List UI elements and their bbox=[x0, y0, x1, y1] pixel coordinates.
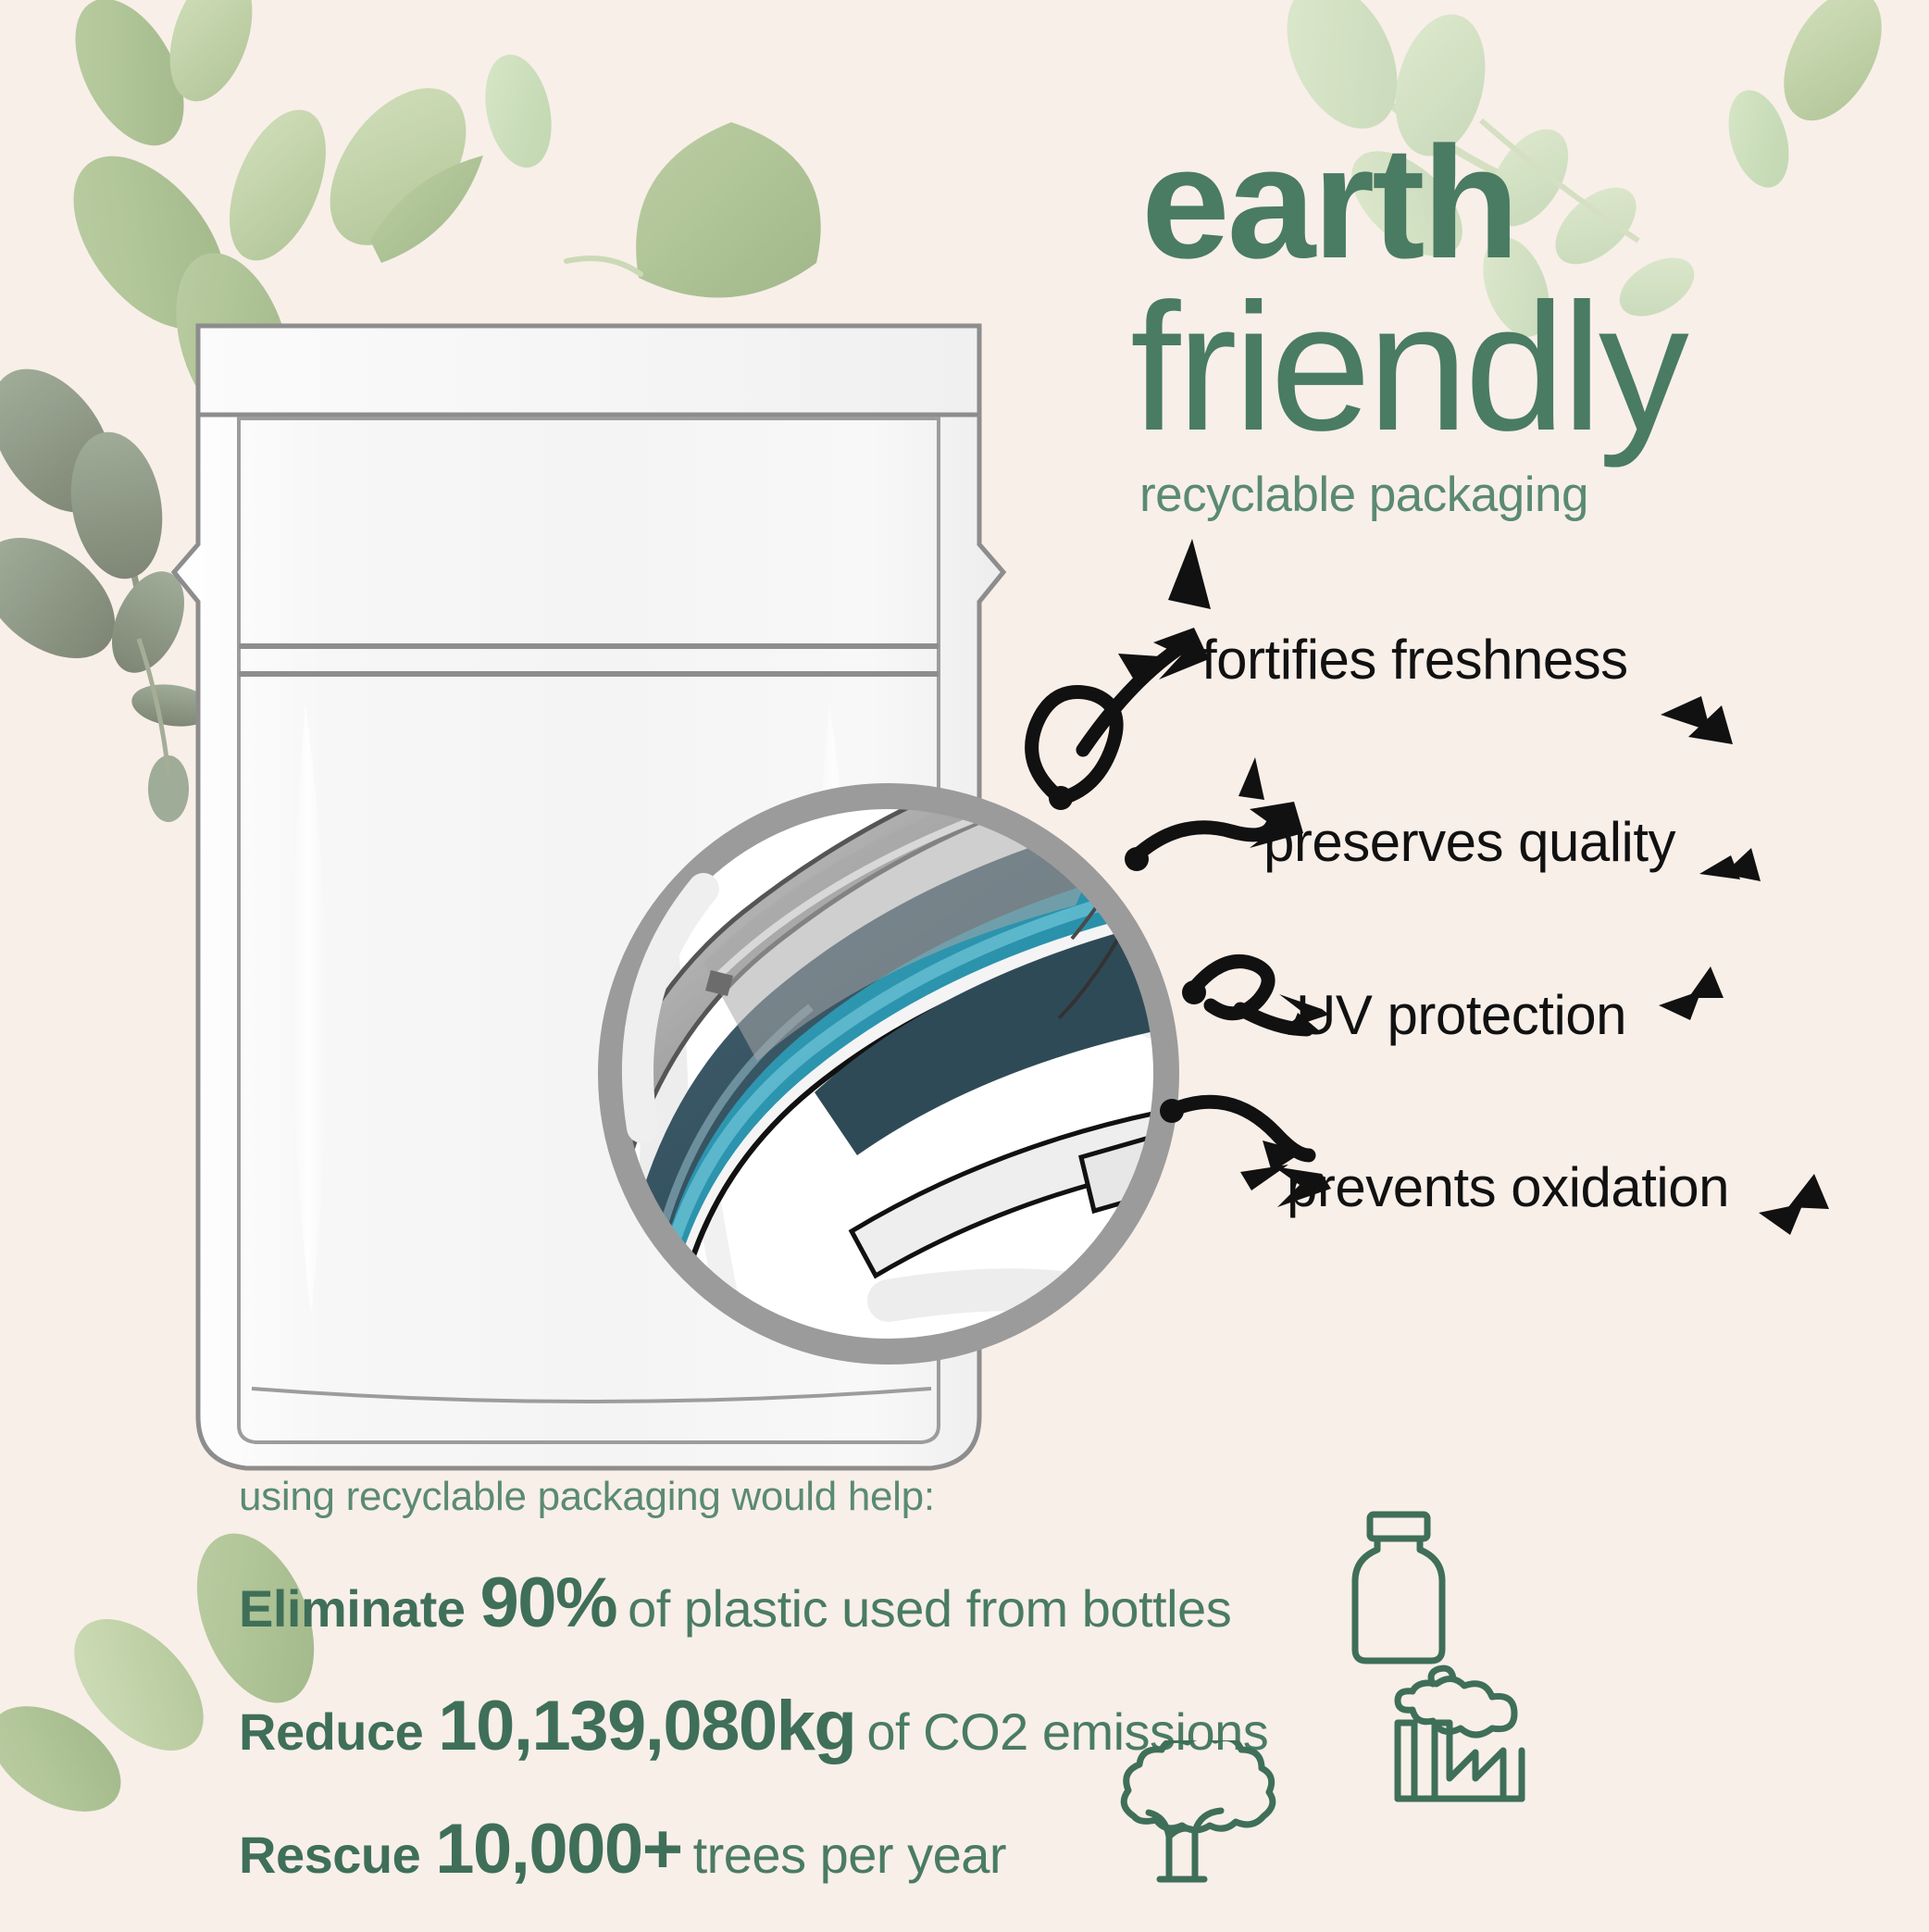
stat-number: 90% bbox=[479, 1563, 616, 1643]
anchor-dot-2 bbox=[1125, 847, 1149, 871]
feature-label-preserves-quality: preserves quality bbox=[1263, 810, 1675, 874]
feature-label-prevents-oxidation: prevents oxidation bbox=[1287, 1155, 1729, 1219]
headline-tagline: recyclable packaging bbox=[1139, 467, 1865, 523]
anchor-dot-3 bbox=[1182, 980, 1206, 1004]
infographic-canvas: earth friendly recyclable packaging fort… bbox=[0, 0, 1929, 1930]
feature-label-fortifies-freshness: fortifies freshness bbox=[1201, 628, 1628, 692]
headline-line-1: earth bbox=[1141, 130, 1865, 276]
stat-rest: of plastic used from bottles bbox=[628, 1578, 1231, 1639]
headline-block: earth friendly recyclable packaging bbox=[1134, 130, 1865, 523]
stat-verb: Reduce bbox=[239, 1701, 423, 1762]
stat-number: 10,000+ bbox=[435, 1809, 681, 1889]
anchor-dot-1 bbox=[1049, 786, 1073, 810]
stat-verb: Rescue bbox=[239, 1825, 420, 1885]
anchor-dot-4 bbox=[1160, 1099, 1184, 1123]
stat-rest: trees per year bbox=[693, 1825, 1007, 1885]
stat-row: Rescue 10,000+ trees per year bbox=[239, 1809, 1627, 1889]
stat-number: 10,139,080kg bbox=[438, 1686, 855, 1766]
headline-line-2: friendly bbox=[1130, 281, 1865, 454]
factory-icon bbox=[1379, 1643, 1546, 1805]
tree-icon bbox=[1106, 1740, 1301, 1902]
feature-label-uv-protection: UV protection bbox=[1296, 983, 1626, 1047]
stat-verb: Eliminate bbox=[239, 1578, 465, 1639]
